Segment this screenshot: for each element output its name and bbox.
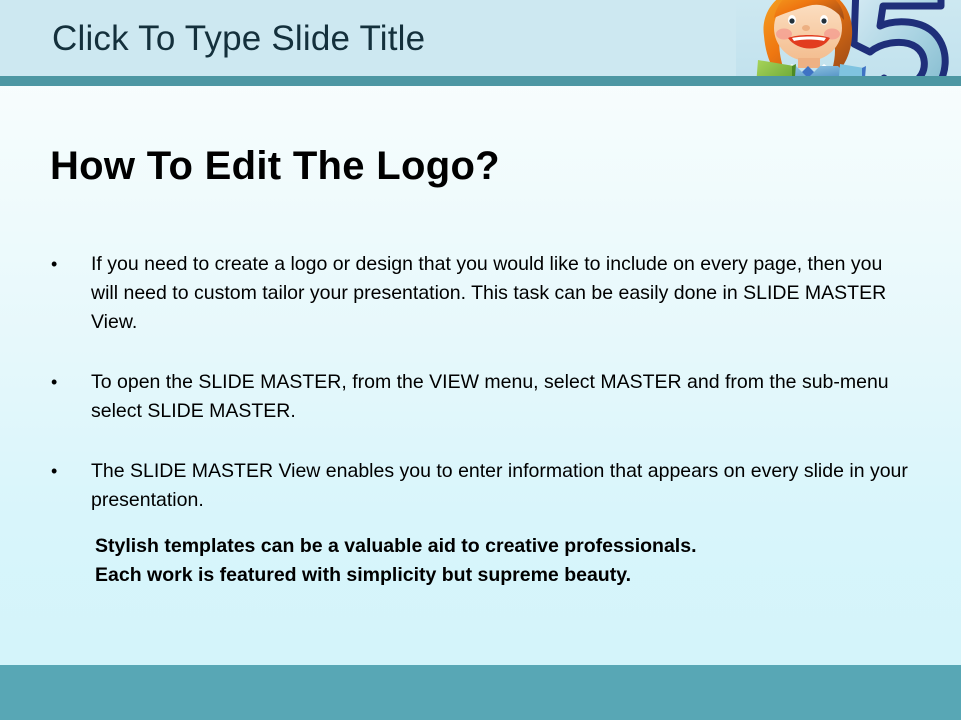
- closing-note[interactable]: Stylish templates can be a valuable aid …: [95, 532, 915, 590]
- slide-content-area: How To Edit The Logo? • If you need to c…: [0, 86, 961, 665]
- bullet-text: The SLIDE MASTER View enables you to ent…: [91, 457, 908, 515]
- slide-title-placeholder[interactable]: Click To Type Slide Title: [52, 16, 425, 62]
- bullet-marker-icon: •: [48, 368, 91, 397]
- bullet-text: To open the SLIDE MASTER, from the VIEW …: [91, 368, 908, 426]
- bullet-item[interactable]: • To open the SLIDE MASTER, from the VIE…: [48, 368, 908, 426]
- presentation-slide: Click To Type Slide Title: [0, 0, 961, 720]
- girl-with-numeral-five-illustration: [736, 0, 961, 76]
- header-divider-bar: [0, 76, 961, 86]
- bullet-text: If you need to create a logo or design t…: [91, 250, 908, 337]
- bullet-item[interactable]: • The SLIDE MASTER View enables you to e…: [48, 457, 908, 515]
- bullet-item[interactable]: • If you need to create a logo or design…: [48, 250, 908, 337]
- content-heading: How To Edit The Logo?: [50, 143, 500, 189]
- closing-note-line-1: Stylish templates can be a valuable aid …: [95, 532, 915, 561]
- header-artwork: [736, 0, 961, 76]
- bullet-marker-icon: •: [48, 250, 91, 279]
- closing-note-line-2: Each work is featured with simplicity bu…: [95, 561, 915, 590]
- bullet-list: • If you need to create a logo or design…: [48, 250, 908, 546]
- slide-footer-bar: ' LOGO ' COMPANY LOGOTYPE INSERT: [0, 665, 961, 720]
- bullet-marker-icon: •: [48, 457, 91, 486]
